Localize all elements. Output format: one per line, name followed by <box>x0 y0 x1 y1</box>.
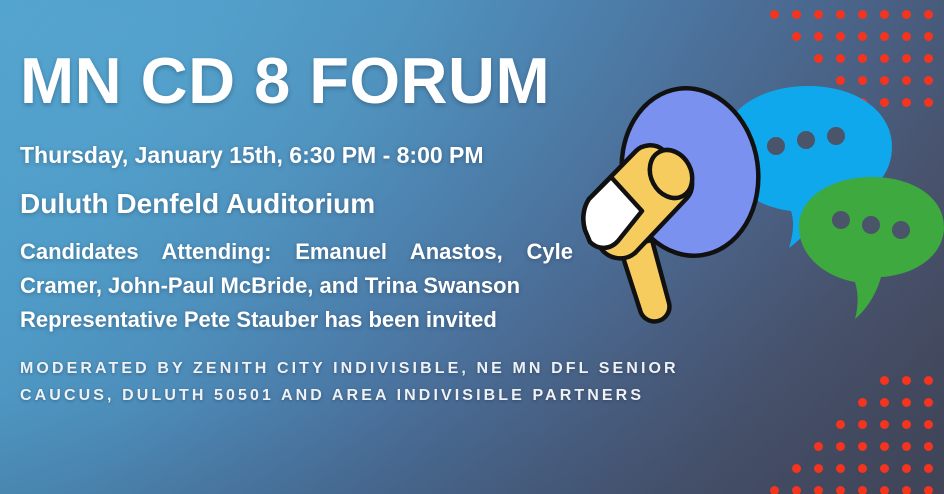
red-dot <box>924 398 933 407</box>
red-dot <box>924 10 933 19</box>
flyer-venue: Duluth Denfeld Auditorium <box>20 187 375 221</box>
red-dot <box>902 32 911 41</box>
flyer-moderators-block: MODERATED BY ZENITH CITY INDIVISIBLE, NE… <box>20 355 892 409</box>
red-dot <box>924 442 933 451</box>
red-dot <box>924 486 933 494</box>
flyer-candidates-block: Candidates Attending: Emanuel Anastos, C… <box>20 235 573 337</box>
red-dot <box>902 376 911 385</box>
red-dot <box>924 32 933 41</box>
red-dot <box>902 486 911 494</box>
candidates-line-1: Candidates Attending: Emanuel Anastos, C… <box>20 235 573 269</box>
red-dot <box>902 420 911 429</box>
candidates-line-2: Cramer, John-Paul McBride, and Trina Swa… <box>20 269 573 303</box>
red-dot <box>902 442 911 451</box>
flyer-title: MN CD 8 FORUM <box>20 48 550 113</box>
red-dot <box>902 464 911 473</box>
red-dot <box>924 98 933 107</box>
red-dot <box>902 54 911 63</box>
event-flyer-banner: MN CD 8 FORUM Thursday, January 15th, 6:… <box>0 0 944 494</box>
moderators-line-2: CAUCUS, DULUTH 50501 AND AREA INDIVISIBL… <box>20 382 892 409</box>
moderators-line-1: MODERATED BY ZENITH CITY INDIVISIBLE, NE… <box>20 355 892 382</box>
red-dot <box>924 420 933 429</box>
red-dot <box>924 76 933 85</box>
candidates-line-3: Representative Pete Stauber has been inv… <box>20 303 573 337</box>
flyer-datetime: Thursday, January 15th, 6:30 PM - 8:00 P… <box>20 142 484 170</box>
red-dot <box>924 464 933 473</box>
red-dot <box>902 76 911 85</box>
red-dot <box>902 398 911 407</box>
flyer-text-content: MN CD 8 FORUM Thursday, January 15th, 6:… <box>20 0 900 494</box>
red-dot <box>924 376 933 385</box>
red-dot <box>902 98 911 107</box>
red-dot <box>902 10 911 19</box>
red-dot <box>924 54 933 63</box>
